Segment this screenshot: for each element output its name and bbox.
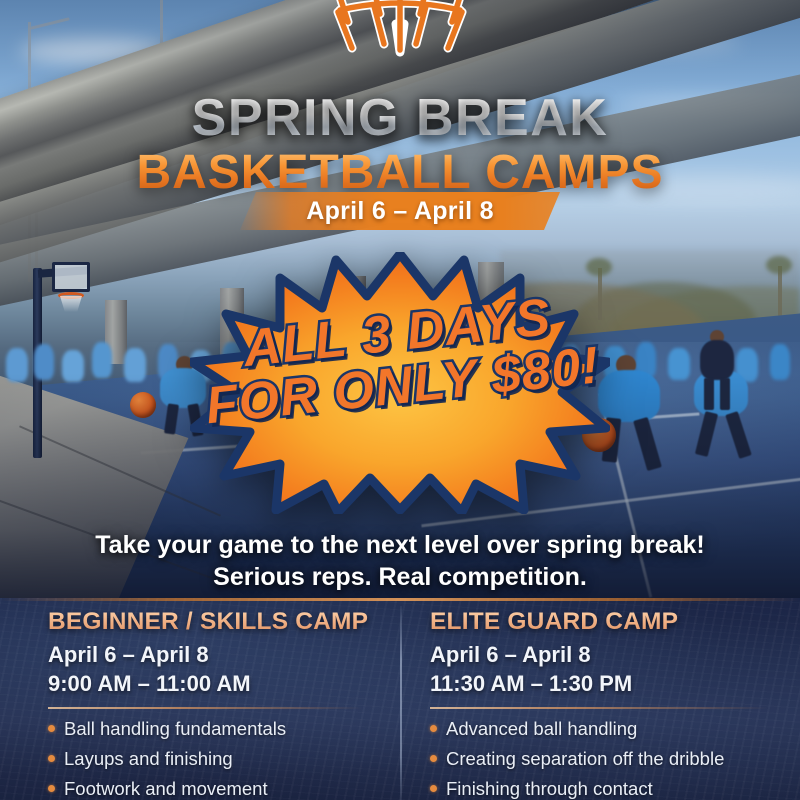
camp-bullet: Footwork and movement	[48, 777, 382, 800]
price-starburst-badge	[190, 252, 610, 514]
camp-bullet: Finishing through contact	[430, 777, 790, 800]
camp-time: 9:00 AM – 11:00 AM	[48, 670, 382, 699]
camp-bullet: Layups and finishing	[48, 747, 382, 771]
camp-column-elite-guard: ELITE GUARD CAMP April 6 – April 8 11:30…	[400, 598, 800, 800]
tagline-block: Take your game to the next level over sp…	[0, 530, 800, 593]
date-ribbon: April 6 – April 8	[240, 192, 560, 230]
camp-title: ELITE GUARD CAMP	[430, 608, 790, 636]
camp-rule-divider	[48, 707, 362, 709]
flyer-poster: SPRING BREAK BASKETBALL CAMPS April 6 – …	[0, 0, 800, 800]
palm-trunk	[778, 266, 782, 320]
headline-block: SPRING BREAK BASKETBALL CAMPS	[0, 92, 800, 198]
camp-bullet: Creating separation off the dribble	[430, 747, 790, 771]
title-basketball-camps: BASKETBALL CAMPS	[0, 149, 800, 198]
camp-column-beginner: BEGINNER / SKILLS CAMP April 6 – April 8…	[0, 598, 400, 800]
coach-leg	[720, 378, 730, 410]
basketball	[130, 392, 156, 418]
camp-time: 11:30 AM – 1:30 PM	[430, 670, 790, 699]
camp-details-panel: BEGINNER / SKILLS CAMP April 6 – April 8…	[0, 598, 800, 800]
palm-fronds	[766, 256, 792, 274]
backboard	[52, 262, 90, 292]
title-spring-break: SPRING BREAK	[0, 92, 800, 145]
tagline-line-2: Serious reps. Real competition.	[0, 562, 800, 594]
camp-bullet: Ball handling fundamentals	[48, 717, 382, 741]
flaming-basketball-logo-icon	[300, 0, 500, 62]
coach-leg	[704, 378, 714, 410]
date-ribbon-label: April 6 – April 8	[306, 197, 494, 226]
tagline-line-1: Take your game to the next level over sp…	[0, 530, 800, 562]
camp-bullet-list: Ball handling fundamentals Layups and fi…	[48, 717, 382, 800]
camp-dates: April 6 – April 8	[430, 641, 790, 670]
camp-title: BEGINNER / SKILLS CAMP	[48, 608, 382, 636]
camp-bullet-list: Advanced ball handling Creating separati…	[430, 717, 790, 800]
light-pole-arm	[30, 17, 70, 30]
coach-figure	[700, 340, 734, 380]
camp-dates: April 6 – April 8	[48, 641, 382, 670]
camp-rule-divider	[430, 707, 768, 709]
camp-bullet: Advanced ball handling	[430, 717, 790, 741]
basketball-net	[60, 296, 82, 312]
